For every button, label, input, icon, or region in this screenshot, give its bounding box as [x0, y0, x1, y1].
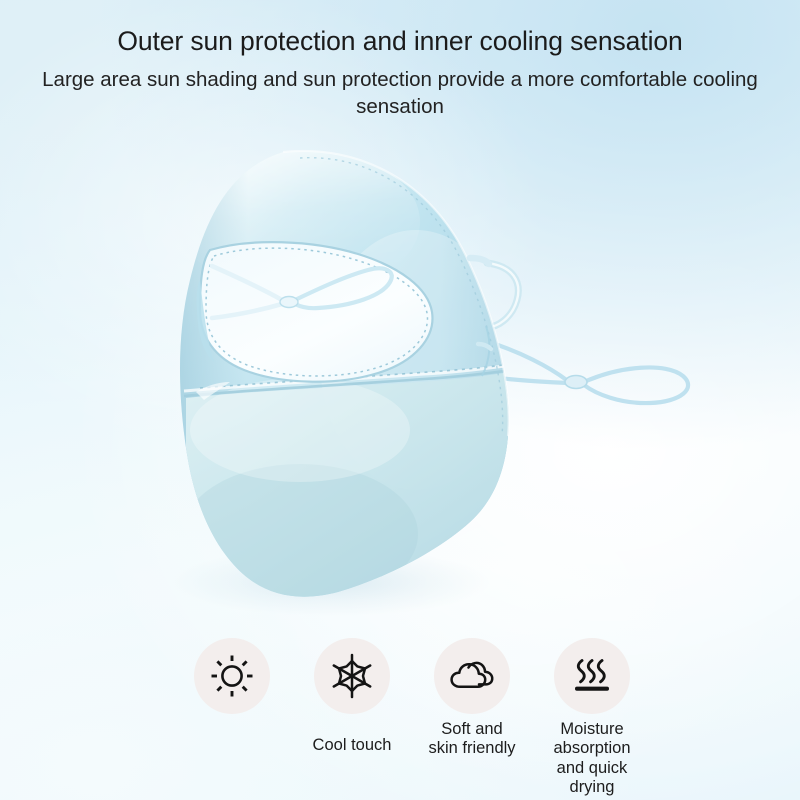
feature-item-sun[interactable] [172, 638, 292, 720]
ear-strap-group [482, 263, 688, 403]
page-title: Outer sun protection and inner cooling s… [0, 0, 800, 56]
page-subtitle: Large area sun shading and sun protectio… [0, 56, 800, 120]
heading-block: Outer sun protection and inner cooling s… [0, 0, 800, 120]
sun-icon [207, 651, 257, 701]
cloud-icon [446, 654, 498, 698]
feature-badge-sun [194, 638, 270, 714]
feature-badge-moisture-absorption [554, 638, 630, 714]
feature-badge-soft-skin-friendly [434, 638, 510, 714]
feature-label-soft-skin-friendly: Soft and skin friendly [412, 720, 532, 759]
feature-item-moisture-absorption[interactable]: Moisture absorption and quick drying [532, 638, 652, 798]
feature-item-cool-touch[interactable]: Cool touch [292, 638, 412, 755]
ear-strap-loop-far [584, 367, 688, 403]
mask-body [178, 130, 520, 630]
feature-item-soft-skin-friendly[interactable]: Soft and skin friendly [412, 638, 532, 759]
snowflake-icon [328, 652, 376, 700]
product-image [0, 130, 800, 630]
strap-adjuster-bead [565, 376, 587, 389]
feature-label-cool-touch: Cool touch [292, 736, 412, 755]
feature-badge-cool-touch [314, 638, 390, 714]
feature-strip: Cool touch Soft and skin friendly [0, 636, 800, 800]
inner-strap-bead [280, 297, 298, 308]
heat-waves-icon [568, 653, 616, 699]
feature-label-moisture-absorption: Moisture absorption and quick drying [532, 720, 652, 798]
